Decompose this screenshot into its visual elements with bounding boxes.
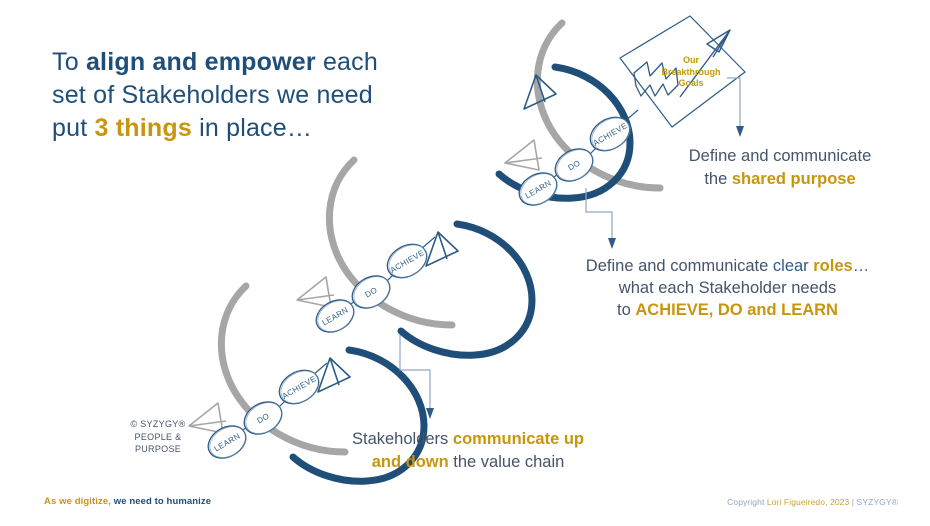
callout-comm-emphasis-2: and down <box>372 453 449 471</box>
callout-purpose-emphasis: shared purpose <box>732 170 856 188</box>
headline-line3-emphasis: 3 things <box>95 114 192 142</box>
callout-comm-line2-b: the value chain <box>449 453 565 471</box>
diamond-label-line3: Goals <box>678 78 703 88</box>
callout-roles-ellipsis: … <box>853 257 870 275</box>
diamond-label-line1: Our <box>683 55 699 65</box>
footer-copyright-separator: | <box>849 497 856 507</box>
callout-comm-emphasis-1: communicate up <box>453 430 584 448</box>
callout-roles-line1-a: Define and communicate <box>586 257 773 275</box>
callout-purpose-line1: Define and communicate <box>689 147 872 165</box>
headline-line1-c: each <box>316 48 378 76</box>
callout-shared-purpose: Define and communicate the shared purpos… <box>655 145 905 191</box>
callout-purpose-line2-a: the <box>704 170 732 188</box>
diamond-label-line2: Breakthrough <box>661 67 720 77</box>
footer-copyright-brand: SYZYGY® <box>857 497 898 507</box>
footer-copyright-prefix: Copyright <box>727 497 767 507</box>
footer-tagline: As we digitize, we need to humanize <box>44 496 211 507</box>
callout-comm-line1-a: Stakeholders <box>352 430 453 448</box>
headline-line2: set of Stakeholders we need <box>52 81 373 109</box>
footer-tagline-navy: we need to humanize <box>111 496 211 507</box>
syzygy-copyright-mark: © SYZYGY® PEOPLE & PURPOSE <box>112 418 204 456</box>
footer-copyright-author: Lori Figueiredo, 2023 <box>767 497 849 507</box>
headline-line3-c: in place… <box>192 114 312 142</box>
page-title: To align and empower each set of Stakeho… <box>52 46 412 145</box>
cycle-top-gray-arrowhead <box>505 140 542 170</box>
syzygy-mark-line2: PEOPLE & <box>135 432 182 442</box>
syzygy-mark-line1: © SYZYGY® <box>131 419 186 429</box>
cycle-bottom-node-achieve: ACHIEVE <box>273 363 325 410</box>
callout-roles-emphasis: roles <box>813 257 852 275</box>
callout-communicate: Stakeholders communicate up and down the… <box>318 428 618 474</box>
callout-roles-line2: what each Stakeholder needs <box>619 279 836 297</box>
callout-clear-roles: Define and communicate clear roles… what… <box>535 255 920 321</box>
callout-roles-line1-b: clear <box>773 257 813 275</box>
callout-roles-line3-emphasis: ACHIEVE, DO and LEARN <box>635 301 838 319</box>
footer-copyright: Copyright Lori Figueiredo, 2023 | SYZYGY… <box>727 497 898 507</box>
slide-canvas: LEARN DO ACHIEVE <box>0 0 930 526</box>
headline-line1-emphasis: align and empower <box>86 48 316 76</box>
footer-tagline-gold: As we digitize, <box>44 496 111 507</box>
syzygy-mark-line3: PURPOSE <box>135 444 181 454</box>
cycle-middle-navy-arc <box>401 224 532 355</box>
headline-line1-a: To <box>52 48 86 76</box>
breakthrough-goals-label: Our Breakthrough Goals <box>655 55 727 90</box>
headline-line3-a: put <box>52 114 95 142</box>
cycle-middle-node-achieve: ACHIEVE <box>381 237 433 284</box>
cycle-middle: LEARN DO ACHIEVE <box>297 160 532 355</box>
callout-roles-line3-a: to <box>617 301 635 319</box>
cycle-bottom-navy-arrowhead <box>318 358 350 392</box>
cycle-middle-navy-arrowhead <box>426 232 458 266</box>
connector-to-shared-purpose <box>727 78 744 137</box>
